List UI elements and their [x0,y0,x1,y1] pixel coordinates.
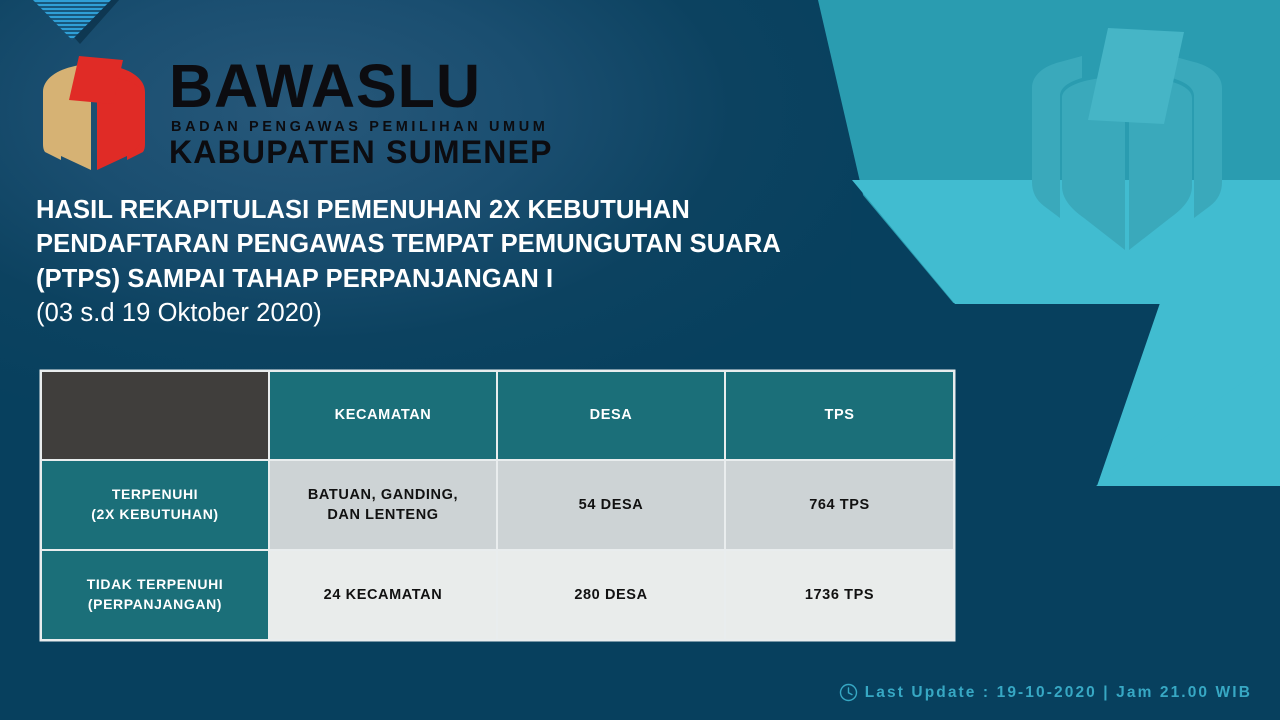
cell-tps-terpenuhi: 764 TPS [725,460,954,550]
row-label-tidak-terpenuhi: TIDAK TERPENUHI (PERPANJANGAN) [41,550,269,640]
column-header-desa: DESA [497,371,725,460]
table-corner-cell [41,371,269,460]
logo-region: KABUPATEN SUMENEP [169,136,553,168]
ballot-box-watermark-icon [1022,20,1232,255]
cell-desa-terpenuhi: 54 DESA [497,460,725,550]
cell-kecamatan-line-2: DAN LENTENG [327,507,438,523]
bawaslu-logo: BAWASLU BADAN PENGAWAS PEMILIHAN UMUM KA… [35,52,553,172]
table-row: TERPENUHI (2X KEBUTUHAN) BATUAN, GANDING… [41,460,954,550]
slide-canvas: BAWASLU BADAN PENGAWAS PEMILIHAN UMUM KA… [0,0,1280,720]
title-line-2: PENDAFTARAN PENGAWAS TEMPAT PEMUNGUTAN S… [36,227,916,261]
row-label-line-2: (PERPANJANGAN) [88,596,222,612]
row-label-line-2: (2X KEBUTUHAN) [91,506,218,522]
clock-icon [839,683,858,702]
column-header-tps: TPS [725,371,954,460]
page-title: HASIL REKAPITULASI PEMENUHAN 2X KEBUTUHA… [36,193,916,330]
cell-kecamatan-terpenuhi: BATUAN, GANDING, DAN LENTENG [269,460,497,550]
row-label-terpenuhi: TERPENUHI (2X KEBUTUHAN) [41,460,269,550]
row-label-line-1: TIDAK TERPENUHI [87,576,224,592]
cell-tps-tidak-terpenuhi: 1736 TPS [725,550,954,640]
title-line-1: HASIL REKAPITULASI PEMENUHAN 2X KEBUTUHA… [36,193,916,227]
title-line-4: (03 s.d 19 Oktober 2020) [36,296,916,330]
last-update-footer: Last Update : 19-10-2020 | Jam 21.00 WIB [839,683,1252,702]
ballot-box-icon [35,52,153,172]
table-header-row: KECAMATAN DESA TPS [41,371,954,460]
table-row: TIDAK TERPENUHI (PERPANJANGAN) 24 KECAMA… [41,550,954,640]
cell-kecamatan-tidak-terpenuhi: 24 KECAMATAN [269,550,497,640]
title-line-3: (PTPS) SAMPAI TAHAP PERPANJANGAN I [36,262,916,296]
recap-table: KECAMATAN DESA TPS TERPENUHI (2X KEBUTUH… [41,371,954,640]
cell-desa-tidak-terpenuhi: 280 DESA [497,550,725,640]
logo-tagline: BADAN PENGAWAS PEMILIHAN UMUM [171,120,553,135]
row-label-line-1: TERPENUHI [112,486,198,502]
last-update-text: Last Update : 19-10-2020 | Jam 21.00 WIB [865,684,1252,702]
logo-name: BAWASLU [169,56,553,117]
column-header-kecamatan: KECAMATAN [269,371,497,460]
cell-kecamatan-line-1: BATUAN, GANDING, [308,487,458,503]
